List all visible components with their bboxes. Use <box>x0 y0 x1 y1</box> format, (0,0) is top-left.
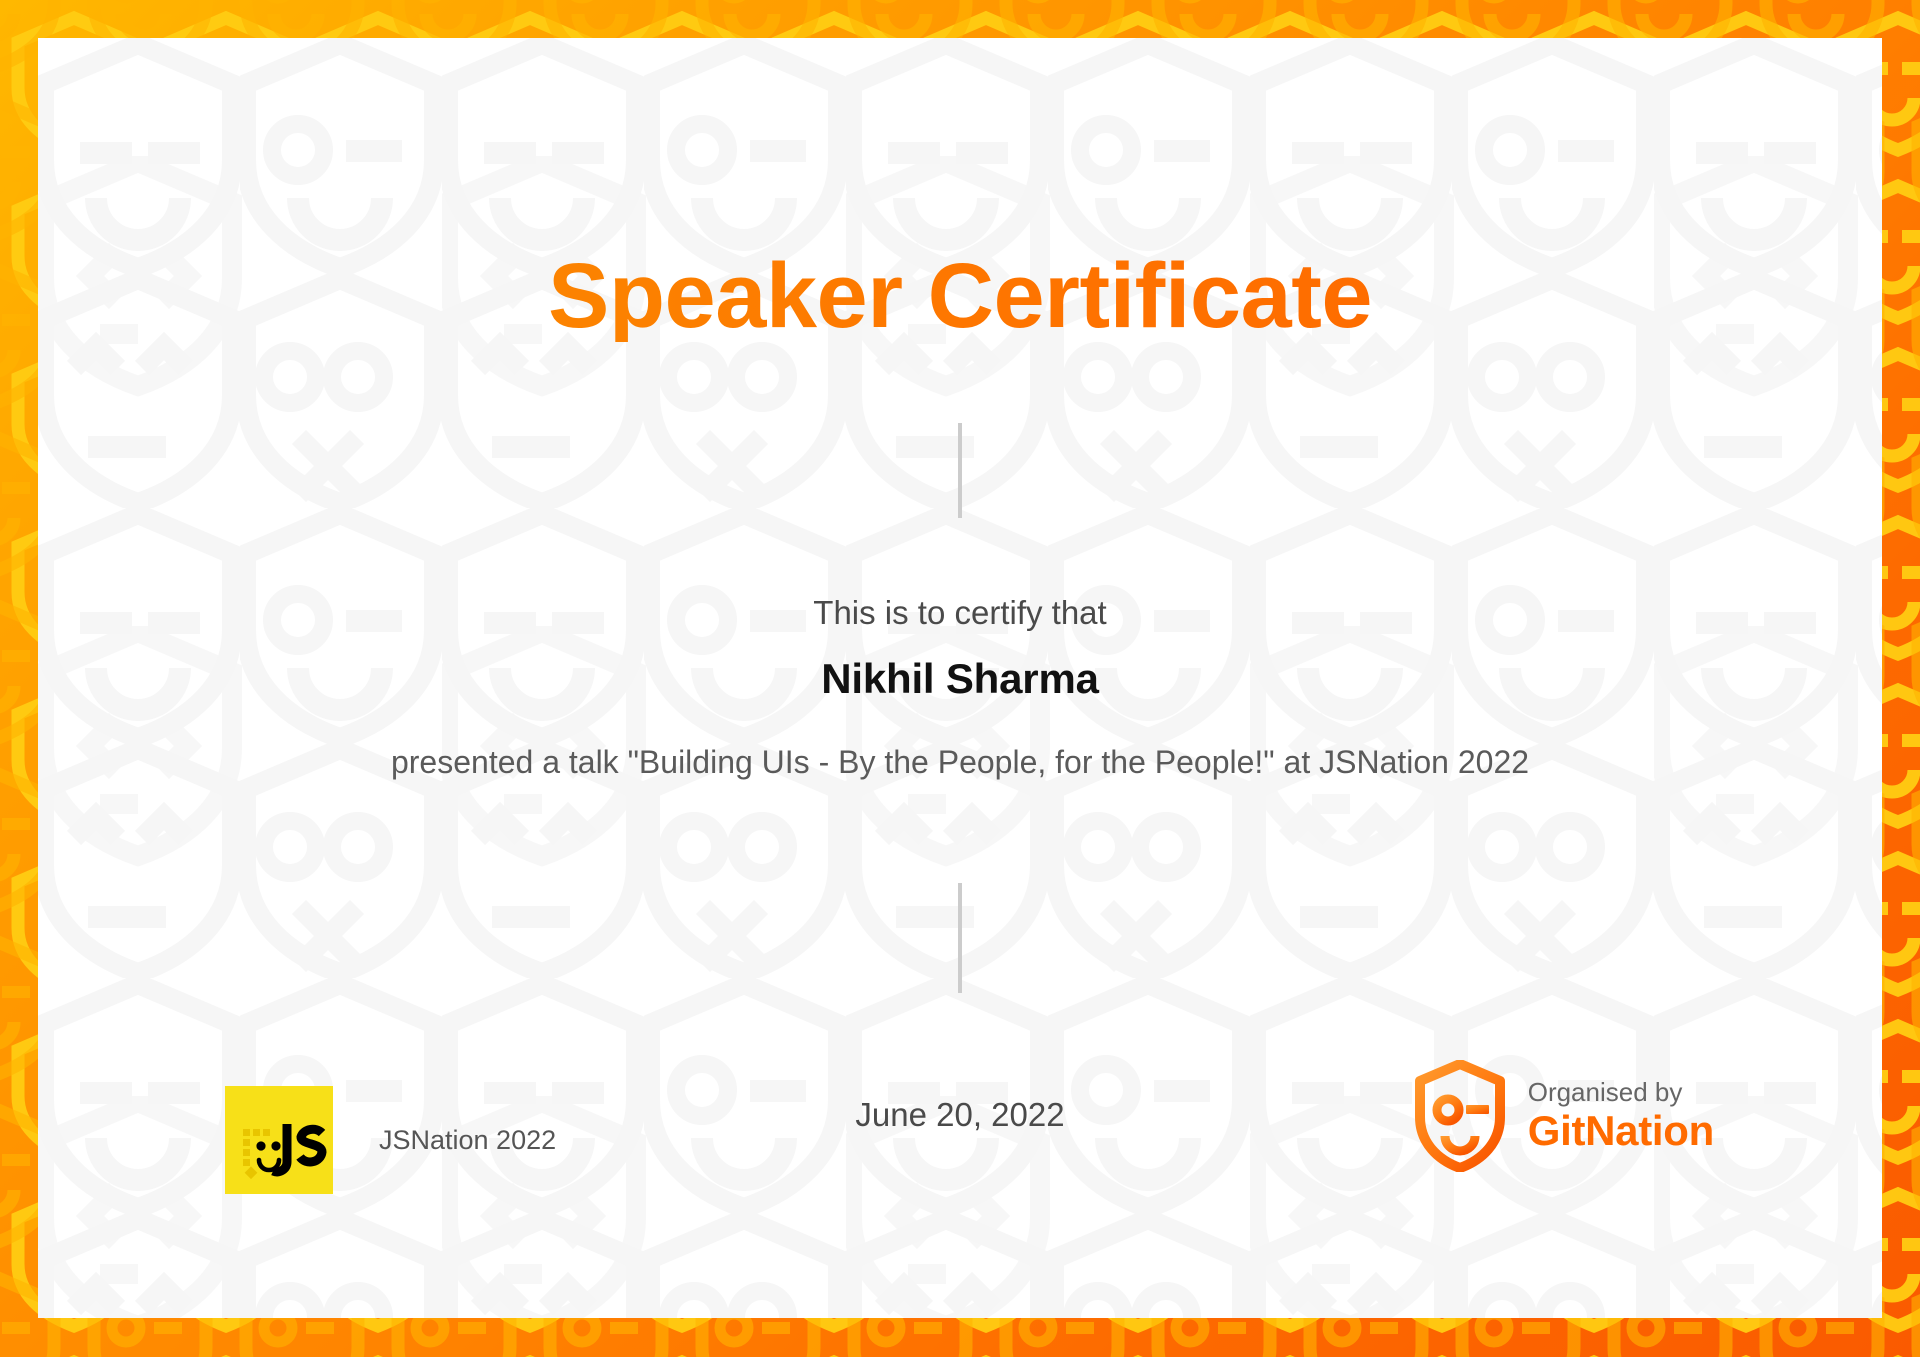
divider-bottom <box>958 883 962 993</box>
gitnation-shield-mask-icon <box>1414 1060 1506 1172</box>
talk-description: presented a talk "Building UIs - By the … <box>38 744 1882 781</box>
organiser-name: GitNation <box>1528 1107 1714 1154</box>
certificate: Speaker Certificate This is to certify t… <box>0 0 1920 1357</box>
certify-line: This is to certify that <box>38 594 1882 632</box>
organised-by-label: Organised by <box>1528 1078 1714 1107</box>
organiser-text: Organised by GitNation <box>1528 1078 1714 1154</box>
certificate-footer: JSNation 2022 June 20, 2022 <box>38 1038 1882 1218</box>
organiser-block: Organised by GitNation <box>1414 1060 1714 1172</box>
page-title: Speaker Certificate <box>38 250 1882 342</box>
certificate-card: Speaker Certificate This is to certify t… <box>38 38 1882 1318</box>
divider-top <box>958 423 962 518</box>
recipient-name: Nikhil Sharma <box>38 655 1882 703</box>
